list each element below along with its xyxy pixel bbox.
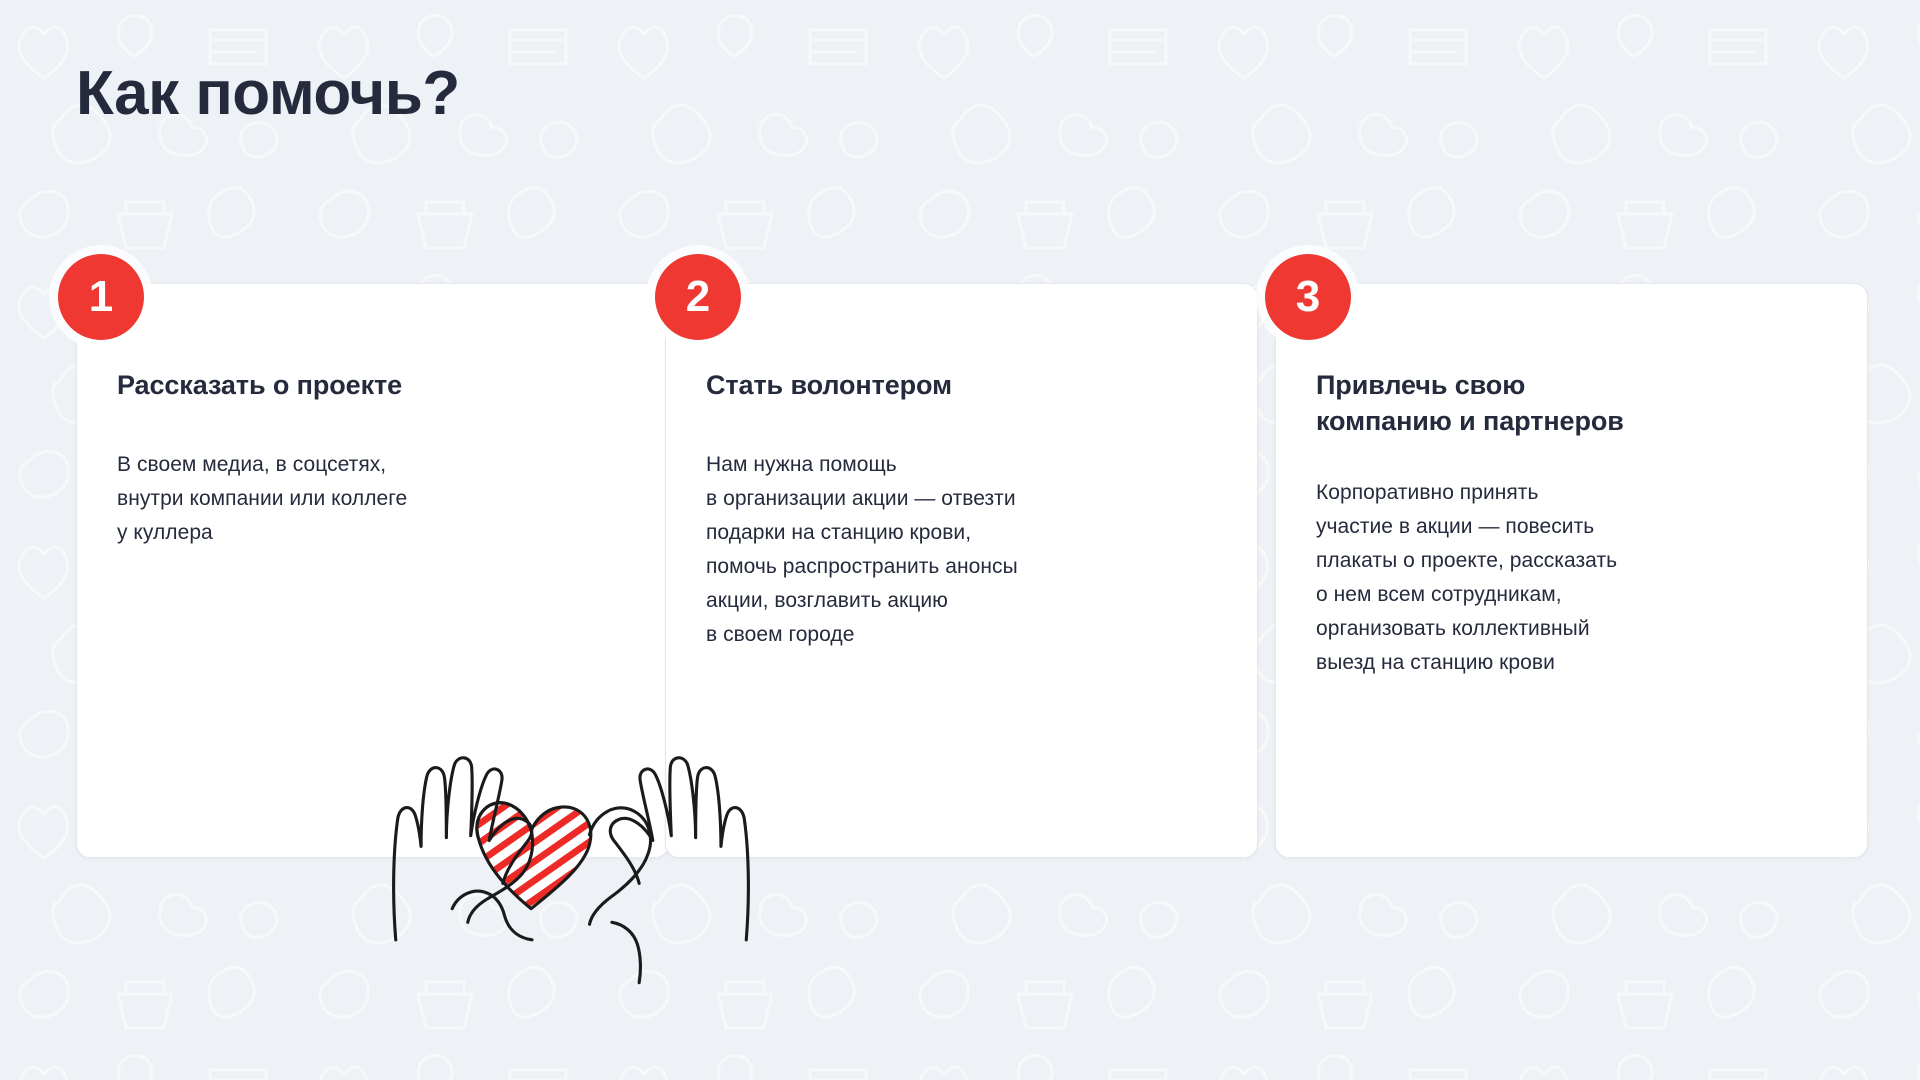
step-badge-1: 1 [58,254,144,340]
card-2-content: Стать волонтером Нам нужна помощь в орга… [706,368,1217,652]
card-step-1[interactable]: Рассказать о проекте В своем медиа, в со… [76,283,669,858]
card-step-3[interactable]: Привлечь свою компанию и партнеров Корпо… [1275,283,1868,858]
slide-root: Как помочь? Рассказать о проекте В своем… [0,0,1920,1080]
card-3-content: Привлечь свою компанию и партнеров Корпо… [1316,368,1827,680]
card-3-body: Корпоративно принять участие в акции — п… [1316,476,1827,680]
card-2-body: Нам нужна помощь в организации акции — о… [706,448,1217,652]
card-1-content: Рассказать о проекте В своем медиа, в со… [117,368,628,550]
card-1-title: Рассказать о проекте [117,368,628,404]
card-3-title: Привлечь свою компанию и партнеров [1316,368,1827,440]
card-2-title: Стать волонтером [706,368,1217,404]
card-1-body: В своем медиа, в соцсетях, внутри компан… [117,448,628,550]
page-title: Как помочь? [76,58,460,129]
step-badge-3: 3 [1265,254,1351,340]
card-step-2[interactable]: Стать волонтером Нам нужна помощь в орга… [665,283,1258,858]
step-badge-2: 2 [655,254,741,340]
